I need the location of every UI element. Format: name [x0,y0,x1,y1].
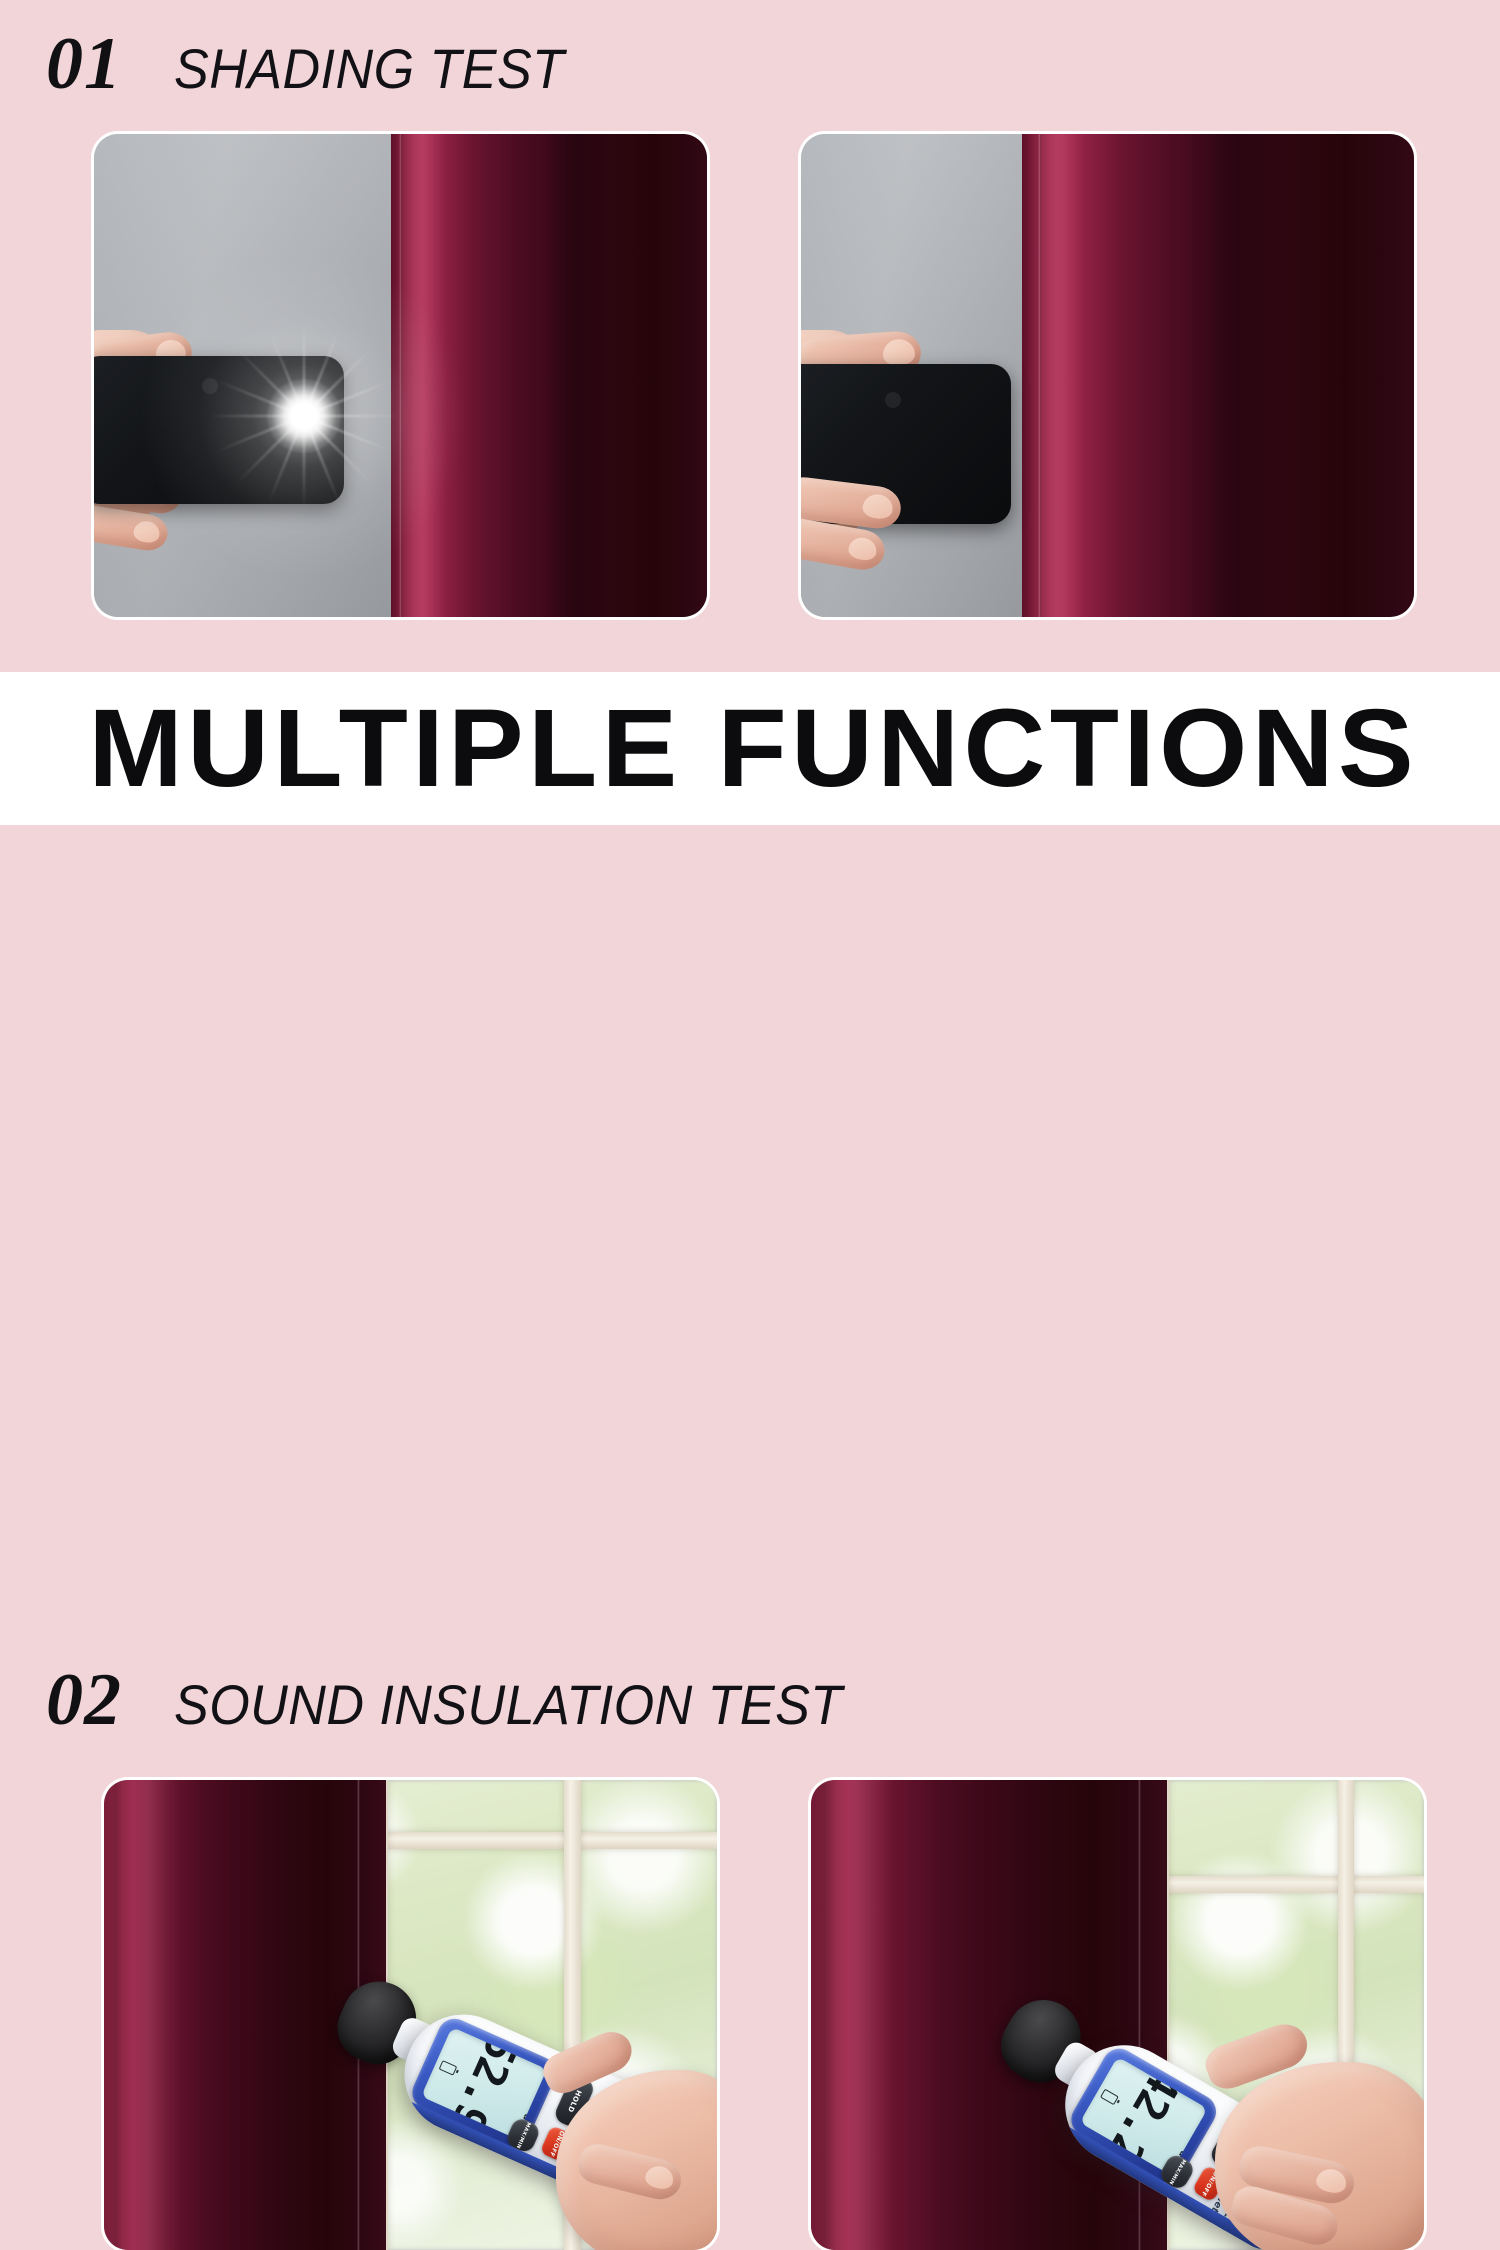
curtain-fold [542,134,614,617]
scene-wall-and-curtain [801,134,1414,617]
index-nail [643,2163,675,2191]
scene-window-and-curtain: 52.9 dBA HOLD ON/OFF MAX/MIN [104,1780,717,2250]
camera-lens-icon [885,392,901,408]
section-title-sound: SOUND INSULATION TEST [174,1677,843,1733]
battery-icon [1100,2089,1119,2106]
burgundy-curtain [1022,134,1414,617]
shading-test-section: 01 SHADING TEST [0,0,1500,672]
section-number-01: 01 [46,27,122,101]
section-title-shading: SHADING TEST [174,41,564,97]
curtain-fold [811,1780,847,2250]
photo-sound-at-window: 52.9 dBA HOLD ON/OFF MAX/MIN [104,1780,717,2250]
battery-icon [439,2060,458,2076]
curtain-fold [1184,134,1289,617]
window-mullion-horizontal [374,1832,717,1849]
thumb-nail [882,338,916,366]
photo-shading-flashlight-on [94,134,707,617]
middle-nail [847,535,878,562]
window-mullion-horizontal [1154,1876,1424,1893]
banner-title: MULTIPLE FUNCTIONS [82,693,1418,803]
scene-wall-and-curtain [94,134,707,617]
scene-window-and-curtain: 42.2 dBA HOLD ON/OFF MAX/MIN [811,1780,1424,2250]
mode-button-label: MAX/MIN [515,2121,532,2149]
index-nail [1314,2166,1348,2195]
index-nail [862,493,895,520]
multiple-functions-banner: MULTIPLE FUNCTIONS [0,672,1500,825]
sound-insulation-test-section: 02 SOUND INSULATION TEST 52.9 [0,825,1500,1500]
middle-nail [132,519,161,544]
photo-sound-behind-curtain: 42.2 dBA HOLD ON/OFF MAX/MIN [811,1780,1424,2250]
sound-insulation-heading: 02 SOUND INSULATION TEST [46,1663,893,1737]
curtain-sheen [1028,134,1085,617]
curtain-fold [104,1780,133,2250]
shading-test-heading: 01 SHADING TEST [46,27,594,101]
mode-button-label: MAX/MIN [1167,2158,1186,2186]
photo-shading-blocked [801,134,1414,617]
section-number-02: 02 [46,1663,122,1737]
flashlight-beam [267,379,341,453]
burgundy-curtain [811,1780,1167,2250]
